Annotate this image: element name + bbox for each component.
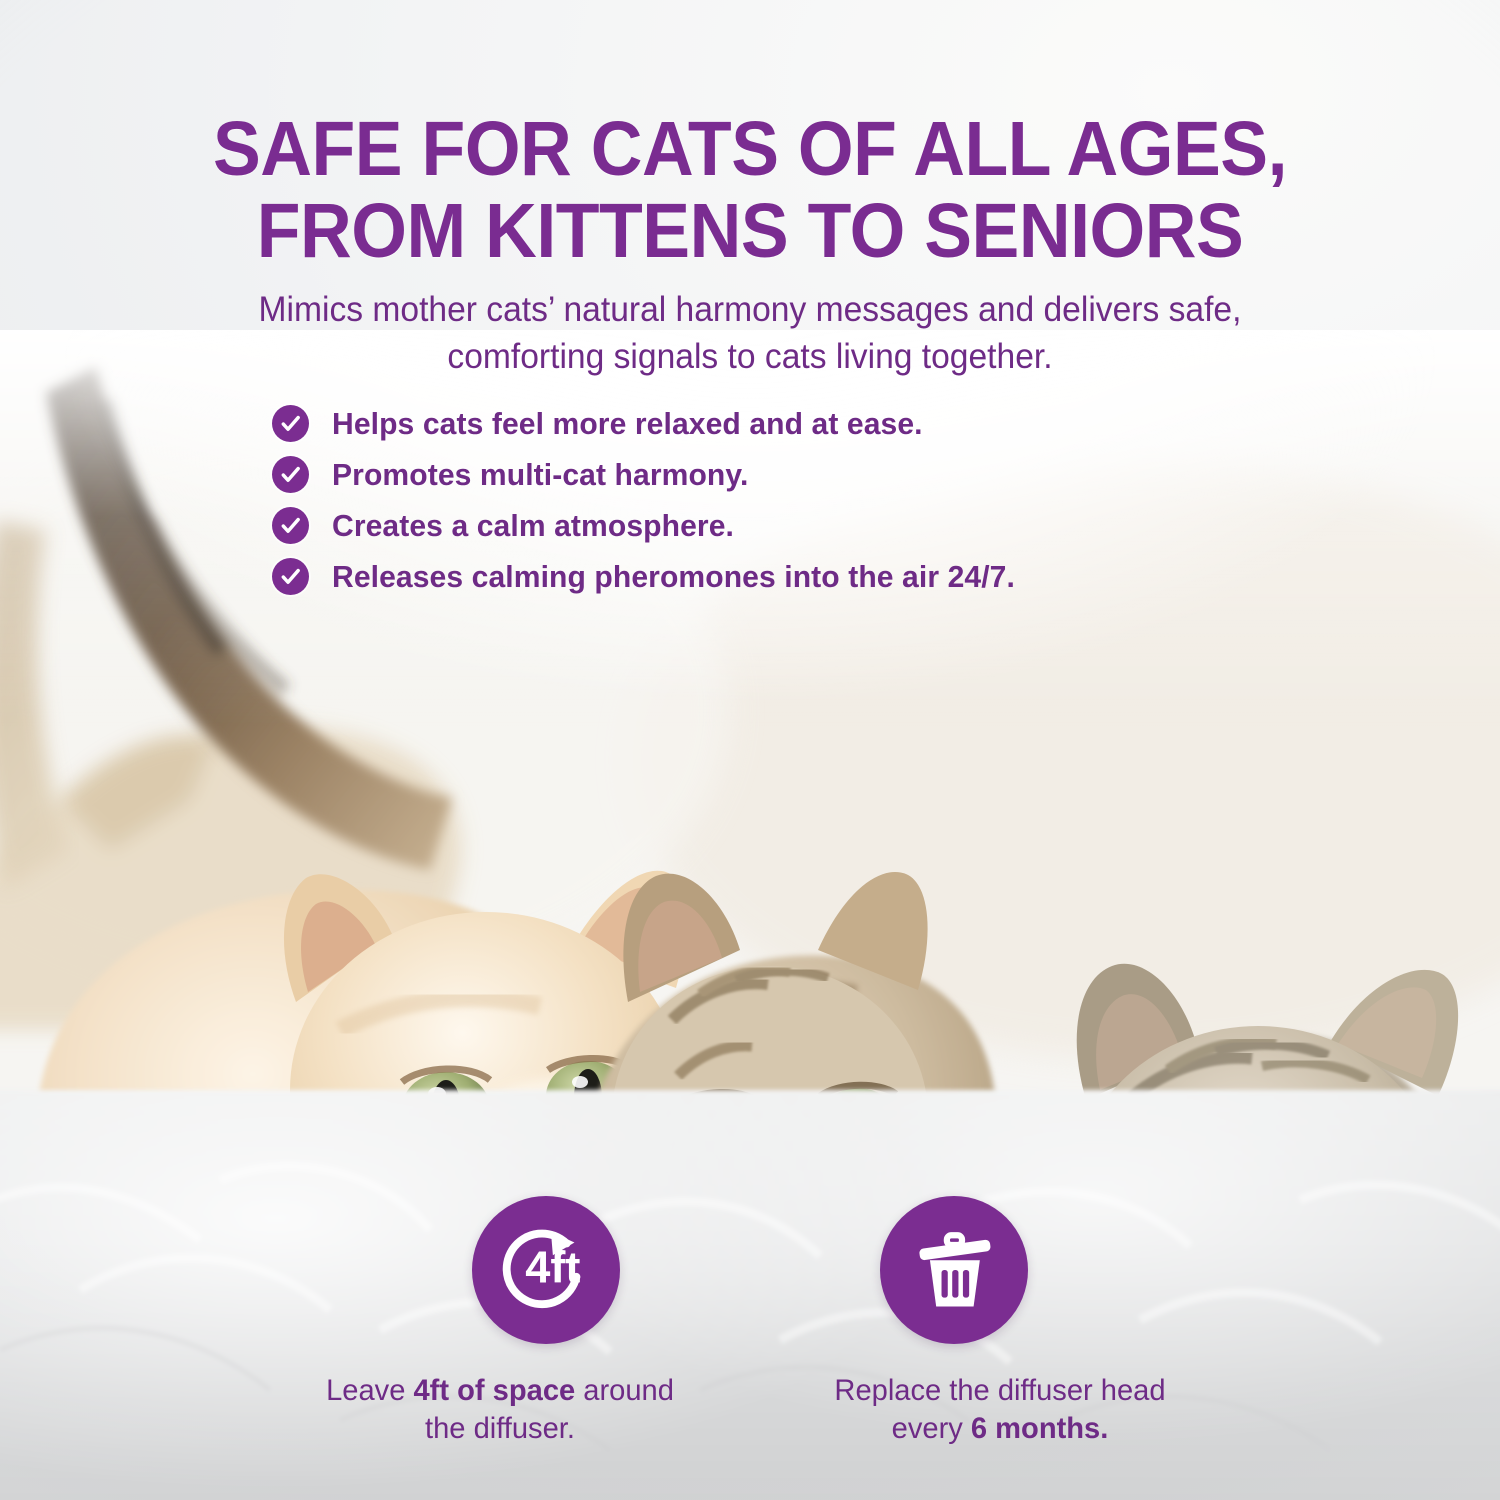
caption-bold: 4ft of space [413,1374,575,1407]
headline-line-1: SAFE FOR CATS OF ALL AGES, [213,106,1287,192]
list-item: Helps cats feel more relaxed and at ease… [272,398,1036,449]
caption-prefix: Leave [326,1374,413,1407]
infographic-panel: SAFE FOR CATS OF ALL AGES, FROM KITTENS … [0,0,1500,1500]
circular-arrow-4ft-icon: 4ft [492,1216,600,1324]
spacing-badge: 4ft [472,1196,620,1344]
subhead-line-1: Mimics mother cats’ natural harmony mess… [259,290,1242,329]
list-item: Promotes multi-cat harmony. [272,449,1036,500]
caption-bold: 6 months. [971,1412,1108,1445]
benefit-text: Creates a calm atmosphere. [332,508,734,544]
trash-can-icon [905,1221,1003,1319]
check-icon [272,405,309,442]
badge-4ft-label: 4ft [525,1242,580,1293]
replace-badge [880,1196,1028,1344]
usage-badges: 4ft [0,1196,1500,1344]
benefit-text: Releases calming pheromones into the air… [332,559,1015,595]
check-icon [272,456,309,493]
headline-line-2: FROM KITTENS TO SENIORS [53,190,1448,272]
check-icon [272,507,309,544]
list-item: Releases calming pheromones into the air… [272,551,1036,602]
subheadline: Mimics mother cats’ natural harmony mess… [145,287,1355,380]
benefits-list: Helps cats feel more relaxed and at ease… [272,398,1036,602]
page-title: SAFE FOR CATS OF ALL AGES, FROM KITTENS … [53,108,1448,273]
badge-captions: Leave 4ft of space around the diffuser. … [0,1372,1500,1449]
benefit-text: Helps cats feel more relaxed and at ease… [332,406,923,442]
replace-caption: Replace the diffuser head every 6 months… [811,1372,1189,1449]
list-item: Creates a calm atmosphere. [272,500,1036,551]
spacing-caption: Leave 4ft of space around the diffuser. [311,1372,689,1449]
check-icon [272,558,309,595]
subhead-line-2: comforting signals to cats living togeth… [145,334,1355,381]
benefit-text: Promotes multi-cat harmony. [332,457,748,493]
